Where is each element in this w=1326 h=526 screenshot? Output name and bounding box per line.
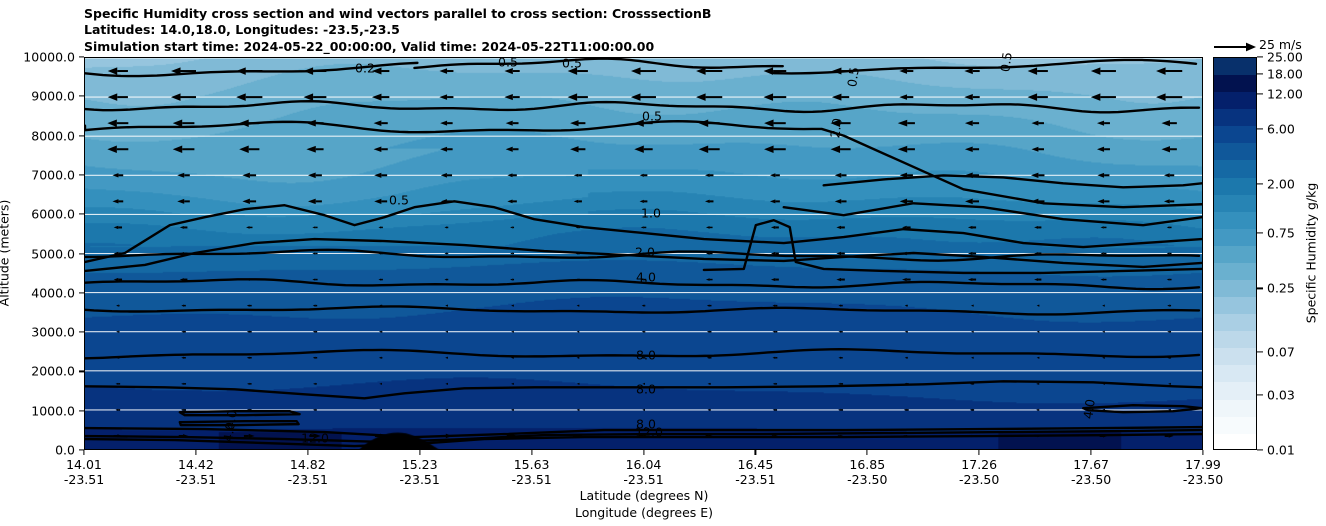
y-axis-label: Altitude (meters)	[0, 200, 12, 307]
colorbar-band	[1214, 126, 1256, 143]
contour-label: 8.0	[636, 348, 656, 363]
colorbar-band	[1214, 195, 1256, 212]
colorbar-band	[1214, 365, 1256, 382]
x-axis-tick-label: 16.45-23.51	[735, 457, 775, 487]
contour-label: 0.2	[355, 61, 375, 76]
contour-label: 0.5	[562, 56, 582, 71]
colorbar-tick-label: 0.03	[1267, 387, 1295, 402]
x-axis-tick-label: 16.04-23.51	[623, 457, 663, 487]
x-tick-latitude: 14.42	[176, 457, 216, 472]
colorbar-tick-mark	[1257, 73, 1263, 74]
x-tick-latitude: 17.67	[1071, 457, 1111, 472]
cross-section-figure: Specific Humidity cross section and wind…	[0, 0, 1326, 526]
y-axis-tick-label: 5000.0	[31, 246, 75, 261]
x-tick-latitude: 15.23	[400, 457, 440, 472]
x-tick-latitude: 16.45	[735, 457, 775, 472]
colorbar-band	[1214, 160, 1256, 177]
contour-label: 0.5	[844, 66, 862, 88]
contour-label: 8.0	[636, 382, 656, 397]
colorbar-band	[1214, 434, 1256, 450]
x-axis-tick-label: 14.82-23.51	[288, 457, 328, 487]
colorbar-title: Specific Humidity g/kg	[1304, 183, 1319, 324]
x-tick-longitude: -23.51	[735, 472, 775, 487]
y-axis-tick-mark	[79, 292, 84, 293]
x-tick-longitude: -23.50	[959, 472, 999, 487]
y-axis-tick-mark	[79, 371, 84, 372]
colorbar-band	[1214, 417, 1256, 434]
x-axis-tick-label: 17.67-23.50	[1071, 457, 1111, 487]
colorbar-band	[1214, 212, 1256, 229]
right-arrow-icon	[1213, 40, 1257, 54]
colorbar-tick-mark	[1257, 233, 1263, 234]
x-axis-tick-mark	[307, 450, 308, 455]
colorbar-band	[1214, 58, 1256, 75]
colorbar-band	[1214, 280, 1256, 297]
contour-label: 4.0	[1080, 398, 1098, 420]
x-axis-tick-mark	[1202, 450, 1203, 455]
colorbar-band	[1214, 400, 1256, 417]
y-axis-tick-mark	[79, 56, 84, 57]
x-axis-tick-mark	[1091, 450, 1092, 455]
x-tick-longitude: -23.50	[1183, 472, 1223, 487]
colorbar-band	[1214, 229, 1256, 246]
x-axis-label-lat: Latitude (degrees N)	[575, 487, 713, 504]
y-axis-tick-label: 8000.0	[31, 128, 75, 143]
colorbar-band	[1214, 297, 1256, 314]
x-tick-longitude: -23.51	[400, 472, 440, 487]
colorbar-tick-mark	[1257, 288, 1263, 289]
x-tick-latitude: 17.99	[1183, 457, 1223, 472]
x-tick-latitude: 16.85	[847, 457, 887, 472]
contour-label: 0.5	[997, 51, 1015, 73]
figure-title: Specific Humidity cross section and wind…	[84, 6, 1204, 55]
colorbar-tick-mark	[1257, 56, 1263, 57]
y-axis-tick-mark	[79, 332, 84, 333]
x-tick-longitude: -23.50	[1071, 472, 1111, 487]
colorbar-tick-label: 18.00	[1267, 66, 1303, 81]
x-tick-latitude: 17.26	[959, 457, 999, 472]
colorbar-band	[1214, 75, 1256, 92]
x-axis-tick-mark	[643, 450, 644, 455]
x-axis-tick-label: 16.85-23.50	[847, 457, 887, 487]
x-axis-tick-label: 17.26-23.50	[959, 457, 999, 487]
x-tick-longitude: -23.51	[511, 472, 551, 487]
x-tick-latitude: 15.63	[511, 457, 551, 472]
y-axis-tick-label: 10000.0	[23, 50, 75, 65]
x-axis-label: Latitude (degrees N) Longitude (degrees …	[575, 487, 713, 521]
x-tick-longitude: -23.51	[176, 472, 216, 487]
x-axis-tick-label: 14.42-23.51	[176, 457, 216, 487]
colorbar-band	[1214, 92, 1256, 109]
contour-label: 1.0	[641, 206, 661, 221]
x-axis-tick-label: 17.99-23.50	[1183, 457, 1223, 487]
x-tick-latitude: 14.82	[288, 457, 328, 472]
x-axis-tick-mark	[419, 450, 420, 455]
contour-label: 2.0	[827, 117, 845, 139]
x-tick-longitude: -23.51	[623, 472, 663, 487]
y-axis-tick-label: 1000.0	[31, 403, 75, 418]
x-axis-tick-mark	[531, 450, 532, 455]
contour-label: 0.5	[642, 109, 662, 124]
x-axis-tick-mark	[195, 450, 196, 455]
contour-label: 12.0	[301, 431, 329, 446]
x-axis-tick-label: 14.01-23.51	[64, 457, 104, 487]
y-axis-tick-label: 4000.0	[31, 285, 75, 300]
colorbar-tick-label: 0.25	[1267, 281, 1295, 296]
colorbar-band	[1214, 143, 1256, 160]
x-tick-latitude: 16.04	[623, 457, 663, 472]
colorbar-tick-mark	[1257, 449, 1263, 450]
contour-label: 2.0	[635, 245, 655, 260]
colorbar-band	[1214, 109, 1256, 126]
title-line-2: Latitudes: 14.0,18.0, Longitudes: -23.5,…	[84, 22, 1204, 38]
title-line-1: Specific Humidity cross section and wind…	[84, 6, 1204, 22]
x-axis-tick-mark	[979, 450, 980, 455]
colorbar-band	[1214, 348, 1256, 365]
x-axis-label-lon: Longitude (degrees E)	[575, 504, 713, 521]
contour-label: 12.0	[635, 425, 663, 440]
x-tick-longitude: -23.51	[288, 472, 328, 487]
colorbar-tick-label: 2.00	[1267, 176, 1295, 191]
colorbar-band	[1214, 246, 1256, 263]
x-axis-tick-mark	[867, 450, 868, 455]
contour-label: 4.0	[636, 270, 656, 285]
y-axis-tick-label: 3000.0	[31, 325, 75, 340]
contour-label: 4.0	[220, 421, 238, 443]
colorbar-tick-label: 0.01	[1267, 443, 1295, 458]
y-axis-tick-mark	[79, 174, 84, 175]
title-line-3: Simulation start time: 2024-05-22_00:00:…	[84, 39, 1204, 55]
y-axis-tick-mark	[79, 96, 84, 97]
colorbar-band	[1214, 331, 1256, 348]
colorbar-tick-mark	[1257, 394, 1263, 395]
y-axis-tick-mark	[79, 410, 84, 411]
x-axis-tick-label: 15.63-23.51	[511, 457, 551, 487]
y-axis-tick-mark	[79, 135, 84, 136]
y-axis-tick-mark	[79, 253, 84, 254]
x-axis-tick-label: 15.23-23.51	[400, 457, 440, 487]
y-axis-tick-label: 7000.0	[31, 167, 75, 182]
colorbar-tick-mark	[1257, 183, 1263, 184]
colorbar-tick-mark	[1257, 352, 1263, 353]
colorbar-tick-label: 12.00	[1267, 86, 1303, 101]
colorbar-band	[1214, 314, 1256, 331]
colorbar-tick-mark	[1257, 93, 1263, 94]
colorbar-tick-mark	[1257, 128, 1263, 129]
colorbar	[1213, 57, 1257, 450]
x-axis-tick-mark	[755, 450, 756, 455]
colorbar-tick-label: 0.75	[1267, 226, 1295, 241]
contour-label: 0.5	[498, 55, 518, 70]
colorbar-tick-label: 25.00	[1267, 50, 1303, 65]
colorbar-tick-label: 0.07	[1267, 345, 1295, 360]
x-tick-latitude: 14.01	[64, 457, 104, 472]
y-axis-tick-mark	[79, 214, 84, 215]
y-axis-tick-label: 0.0	[55, 443, 75, 458]
x-tick-longitude: -23.51	[64, 472, 104, 487]
colorbar-tick-label: 6.00	[1267, 121, 1295, 136]
y-axis-tick-label: 2000.0	[31, 364, 75, 379]
y-axis-tick-label: 9000.0	[31, 89, 75, 104]
x-tick-longitude: -23.50	[847, 472, 887, 487]
contour-label: 0.5	[389, 193, 409, 208]
y-axis-tick-label: 6000.0	[31, 207, 75, 222]
x-axis-tick-mark	[83, 450, 84, 455]
colorbar-band	[1214, 178, 1256, 195]
colorbar-band	[1214, 263, 1256, 280]
colorbar-band	[1214, 382, 1256, 399]
